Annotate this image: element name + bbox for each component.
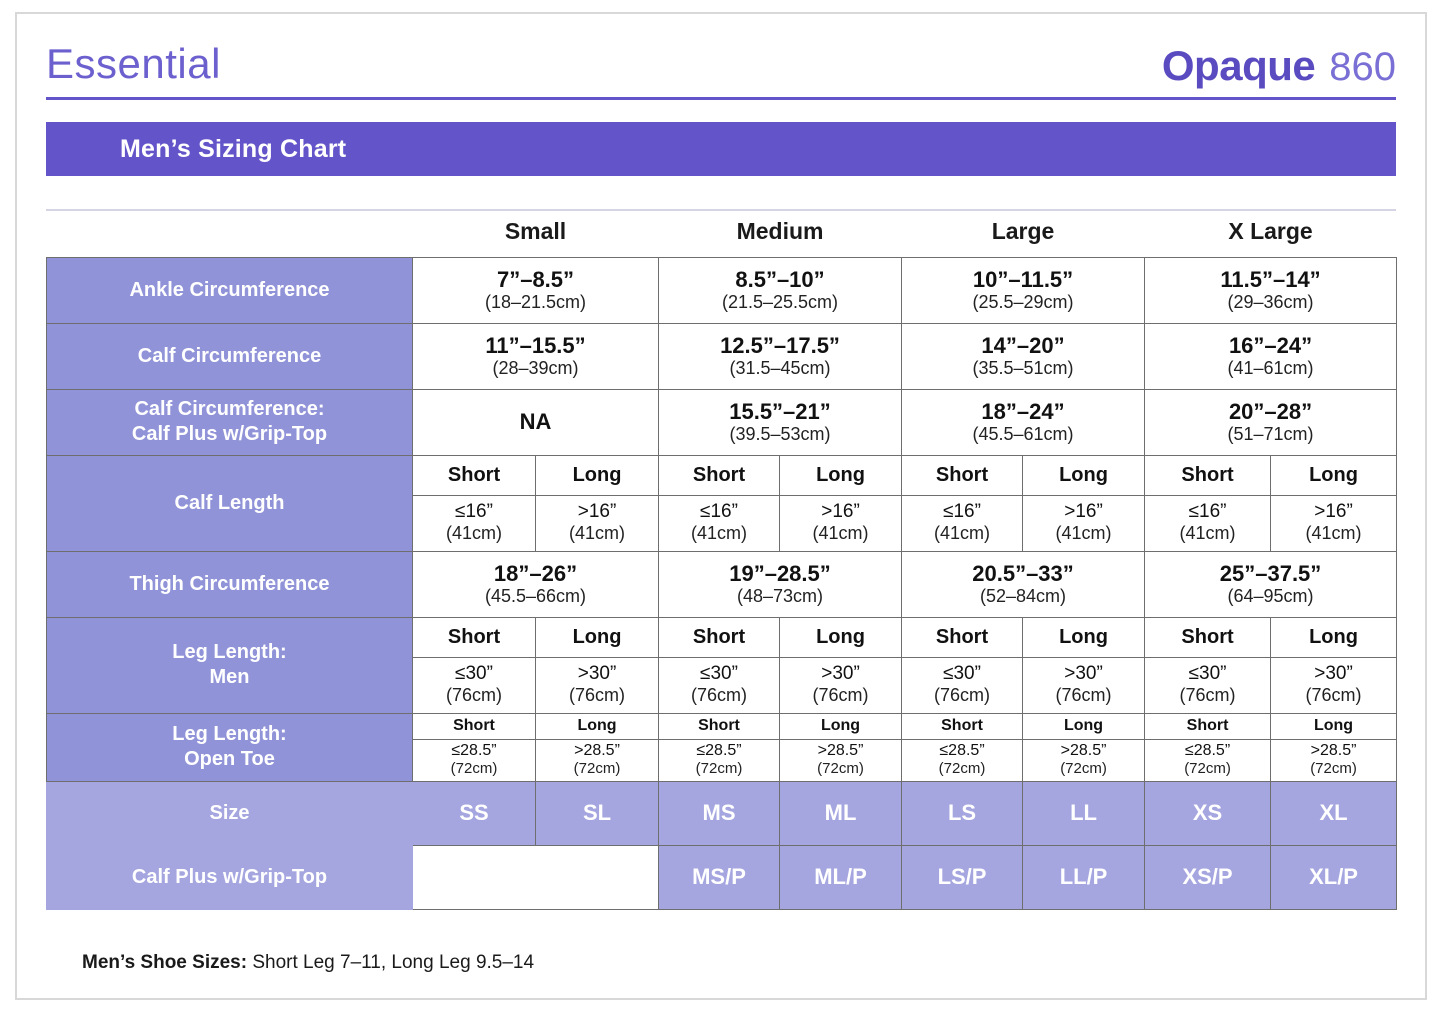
cell-primary-value: 20”–28”: [1145, 399, 1396, 424]
cell-metric-value: (52–84cm): [902, 586, 1144, 608]
data-cell: 15.5”–21”(39.5–53cm): [659, 389, 902, 455]
data-cell: 10”–11.5”(25.5–29cm): [902, 257, 1145, 323]
cell-primary-value: ≤30”: [1145, 663, 1270, 685]
length-subheader: Long: [536, 455, 659, 495]
cell-primary-value: 8.5”–10”: [659, 267, 901, 292]
data-cell: ≤28.5”(72cm): [413, 739, 536, 781]
data-cell: >16”(41cm): [536, 495, 659, 551]
length-subheader: Short: [413, 455, 536, 495]
data-cell: 20”–28”(51–71cm): [1145, 389, 1397, 455]
cell-primary-value: 14”–20”: [902, 333, 1144, 358]
data-cell: 7”–8.5”(18–21.5cm): [413, 257, 659, 323]
row-label-line2: Calf Plus w/Grip-Top: [47, 422, 412, 447]
size-column-header: X Large: [1145, 211, 1397, 257]
data-cell: >16”(41cm): [780, 495, 902, 551]
row-label-text: Calf Circumference: [138, 345, 321, 367]
cell-primary-value: ≤16”: [902, 501, 1022, 523]
data-cell: >16”(41cm): [1023, 495, 1145, 551]
shoe-size-footnote: Men’s Shoe Sizes: Short Leg 7–11, Long L…: [82, 952, 534, 974]
length-subheader: Short: [1145, 455, 1271, 495]
data-cell: 12.5”–17.5”(31.5–45cm): [659, 323, 902, 389]
cell-metric-value: (72cm): [902, 760, 1022, 778]
row-label: Leg Length:Open Toe: [47, 713, 413, 781]
length-subheader: Long: [1271, 713, 1397, 739]
length-subheader: Short: [659, 713, 780, 739]
data-cell: 16”–24”(41–61cm): [1145, 323, 1397, 389]
size-code-cell: LS/P: [902, 845, 1023, 909]
size-code-cell: MS: [659, 781, 780, 845]
row-label: Thigh Circumference: [47, 551, 413, 617]
length-subheader: Short: [1145, 617, 1271, 657]
footnote-value: Short Leg 7–11, Long Leg 9.5–14: [247, 952, 534, 973]
cell-primary-value: >30”: [780, 663, 901, 685]
row-label: Calf Circumference: [47, 323, 413, 389]
cell-primary-value: ≤28.5”: [1145, 742, 1270, 760]
size-column-header: Small: [413, 211, 659, 257]
cell-primary-value: 11.5”–14”: [1145, 267, 1396, 292]
cell-primary-value: 19”–28.5”: [659, 561, 901, 586]
cell-primary-value: >16”: [1271, 501, 1396, 523]
data-cell: >30”(76cm): [1023, 657, 1145, 713]
cell-metric-value: (41cm): [659, 523, 779, 545]
row-label: Calf Circumference:Calf Plus w/Grip-Top: [47, 389, 413, 455]
length-subheader: Long: [780, 617, 902, 657]
cell-primary-value: 25”–37.5”: [1145, 561, 1396, 586]
cell-primary-value: >28.5”: [1271, 742, 1396, 760]
cell-primary-value: 12.5”–17.5”: [659, 333, 901, 358]
table-row: Calf Plus w/Grip-TopMS/PML/PLS/PLL/PXS/P…: [47, 845, 1397, 909]
data-cell: 11.5”–14”(29–36cm): [1145, 257, 1397, 323]
cell-metric-value: (41–61cm): [1145, 358, 1396, 380]
cell-primary-value: >28.5”: [536, 742, 658, 760]
data-cell: ≤28.5”(72cm): [659, 739, 780, 781]
row-label-line1: Leg Length:: [47, 722, 412, 747]
cell-primary-value: ≤16”: [413, 501, 535, 523]
size-code-cell: XL: [1271, 781, 1397, 845]
cell-primary-value: >16”: [780, 501, 901, 523]
footnote-label: Men’s Shoe Sizes:: [82, 952, 247, 973]
cell-primary-value: 11”–15.5”: [413, 333, 658, 358]
document-header: Essential Opaque 860: [46, 26, 1396, 100]
row-label: Calf Length: [47, 455, 413, 551]
data-cell: >28.5”(72cm): [536, 739, 659, 781]
cell-metric-value: (41cm): [1023, 523, 1144, 545]
length-subheader: Long: [1023, 617, 1145, 657]
cell-metric-value: (72cm): [1023, 760, 1144, 778]
length-subheader: Long: [1271, 617, 1397, 657]
data-cell: ≤30”(76cm): [413, 657, 536, 713]
row-label: Ankle Circumference: [47, 257, 413, 323]
length-subheader: Short: [413, 713, 536, 739]
length-subheader: Long: [536, 617, 659, 657]
product-name: Opaque: [1162, 45, 1315, 87]
cell-metric-value: (25.5–29cm): [902, 292, 1144, 314]
cell-metric-value: (41cm): [1271, 523, 1396, 545]
length-subheader: Long: [536, 713, 659, 739]
cell-primary-value: 18”–26”: [413, 561, 658, 586]
cell-metric-value: (28–39cm): [413, 358, 658, 380]
size-code-cell: XS: [1145, 781, 1271, 845]
data-cell: ≤30”(76cm): [1145, 657, 1271, 713]
length-subheader: Short: [659, 617, 780, 657]
size-column-header: Medium: [659, 211, 902, 257]
length-subheader: Short: [902, 617, 1023, 657]
cell-metric-value: (45.5–61cm): [902, 424, 1144, 446]
cell-primary-value: ≤16”: [1145, 501, 1270, 523]
product-number: 860: [1329, 47, 1396, 87]
row-label-text: Calf Plus w/Grip-Top: [132, 866, 327, 888]
length-subheader: Long: [780, 713, 902, 739]
data-cell: ≤28.5”(72cm): [902, 739, 1023, 781]
table-row: Thigh Circumference18”–26”(45.5–66cm)19”…: [47, 551, 1397, 617]
cell-primary-value: 16”–24”: [1145, 333, 1396, 358]
cell-metric-value: (18–21.5cm): [413, 292, 658, 314]
cell-primary-value: >28.5”: [780, 742, 901, 760]
table-row: Calf Circumference:Calf Plus w/Grip-TopN…: [47, 389, 1397, 455]
cell-primary-value: >30”: [536, 663, 658, 685]
cell-metric-value: (72cm): [536, 760, 658, 778]
size-code-cell: SS: [413, 781, 536, 845]
sizing-table: SmallMediumLargeX LargeAnkle Circumferen…: [46, 211, 1397, 910]
row-label-line2: Men: [47, 665, 412, 690]
length-subheader: Short: [413, 617, 536, 657]
cell-primary-value: ≤28.5”: [659, 742, 779, 760]
table-row: Ankle Circumference7”–8.5”(18–21.5cm)8.5…: [47, 257, 1397, 323]
cell-metric-value: (41cm): [536, 523, 658, 545]
cell-metric-value: (76cm): [413, 685, 535, 707]
cell-metric-value: (76cm): [902, 685, 1022, 707]
cell-metric-value: (41cm): [780, 523, 901, 545]
cell-metric-value: (31.5–45cm): [659, 358, 901, 380]
length-subheader: Short: [902, 713, 1023, 739]
product-identifier: Opaque 860: [1162, 45, 1396, 97]
data-cell: >28.5”(72cm): [1023, 739, 1145, 781]
size-code-cell: LL/P: [1023, 845, 1145, 909]
page-title: Men’s Sizing Chart: [46, 135, 346, 164]
corner-blank: [47, 211, 413, 257]
cell-primary-value: >28.5”: [1023, 742, 1144, 760]
length-subheader: Long: [1271, 455, 1397, 495]
cell-metric-value: (29–36cm): [1145, 292, 1396, 314]
cell-primary-value: >16”: [1023, 501, 1144, 523]
cell-metric-value: (48–73cm): [659, 586, 901, 608]
length-subheader: Long: [1023, 713, 1145, 739]
cell-primary-value: ≤30”: [413, 663, 535, 685]
cell-metric-value: (76cm): [1271, 685, 1396, 707]
cell-metric-value: (76cm): [1023, 685, 1144, 707]
cell-primary-value: NA: [413, 409, 658, 434]
row-label-line1: Leg Length:: [47, 640, 412, 665]
sizing-chart-page: Essential Opaque 860 Men’s Sizing Chart …: [0, 0, 1445, 1020]
row-label: Leg Length:Men: [47, 617, 413, 713]
row-label-text: Thigh Circumference: [129, 573, 329, 595]
cell-primary-value: ≤28.5”: [413, 742, 535, 760]
data-cell: >30”(76cm): [780, 657, 902, 713]
data-cell: ≤30”(76cm): [902, 657, 1023, 713]
cell-metric-value: (72cm): [1271, 760, 1396, 778]
cell-metric-value: (76cm): [780, 685, 901, 707]
table-row: SizeSSSLMSMLLSLLXSXL: [47, 781, 1397, 845]
cell-primary-value: 10”–11.5”: [902, 267, 1144, 292]
cell-primary-value: ≤16”: [659, 501, 779, 523]
data-cell: >28.5”(72cm): [780, 739, 902, 781]
data-cell: >16”(41cm): [1271, 495, 1397, 551]
row-label: Size: [47, 781, 413, 845]
cell-metric-value: (21.5–25.5cm): [659, 292, 901, 314]
table-row: Leg Length:Open ToeShortLongShortLongSho…: [47, 713, 1397, 739]
data-cell: 20.5”–33”(52–84cm): [902, 551, 1145, 617]
cell-metric-value: (76cm): [1145, 685, 1270, 707]
row-label-text: Calf Length: [175, 492, 285, 514]
data-cell: 8.5”–10”(21.5–25.5cm): [659, 257, 902, 323]
size-code-cell: ML/P: [780, 845, 902, 909]
cell-metric-value: (72cm): [413, 760, 535, 778]
cell-metric-value: (45.5–66cm): [413, 586, 658, 608]
cell-metric-value: (76cm): [659, 685, 779, 707]
size-code-cell: XL/P: [1271, 845, 1397, 909]
cell-primary-value: >30”: [1023, 663, 1144, 685]
data-cell: NA: [413, 389, 659, 455]
data-cell: ≤28.5”(72cm): [1145, 739, 1271, 781]
data-cell: 25”–37.5”(64–95cm): [1145, 551, 1397, 617]
data-cell: 11”–15.5”(28–39cm): [413, 323, 659, 389]
cell-metric-value: (72cm): [1145, 760, 1270, 778]
length-subheader: Long: [780, 455, 902, 495]
size-code-cell: SL: [536, 781, 659, 845]
size-column-header-row: SmallMediumLargeX Large: [47, 211, 1397, 257]
cell-metric-value: (72cm): [659, 760, 779, 778]
cell-primary-value: ≤30”: [902, 663, 1022, 685]
data-cell: 14”–20”(35.5–51cm): [902, 323, 1145, 389]
chart-title-bar: Men’s Sizing Chart: [46, 122, 1396, 176]
data-cell: 18”–24”(45.5–61cm): [902, 389, 1145, 455]
data-cell: 19”–28.5”(48–73cm): [659, 551, 902, 617]
length-subheader: Short: [659, 455, 780, 495]
data-cell: ≤16”(41cm): [1145, 495, 1271, 551]
cell-metric-value: (76cm): [536, 685, 658, 707]
data-cell: >30”(76cm): [536, 657, 659, 713]
cell-primary-value: 20.5”–33”: [902, 561, 1144, 586]
cell-metric-value: (51–71cm): [1145, 424, 1396, 446]
row-label-text: Size: [209, 802, 249, 824]
size-column-header: Large: [902, 211, 1145, 257]
cell-primary-value: ≤28.5”: [902, 742, 1022, 760]
cell-metric-value: (41cm): [1145, 523, 1270, 545]
data-cell: ≤16”(41cm): [902, 495, 1023, 551]
data-cell: ≤30”(76cm): [659, 657, 780, 713]
cell-metric-value: (64–95cm): [1145, 586, 1396, 608]
cell-metric-value: (41cm): [413, 523, 535, 545]
table-row: Leg Length:MenShortLongShortLongShortLon…: [47, 617, 1397, 657]
size-code-cell: XS/P: [1145, 845, 1271, 909]
cell-primary-value: >16”: [536, 501, 658, 523]
size-code-cell: ML: [780, 781, 902, 845]
cell-primary-value: 18”–24”: [902, 399, 1144, 424]
cell-primary-value: ≤30”: [659, 663, 779, 685]
data-cell: ≤16”(41cm): [413, 495, 536, 551]
row-label-text: Ankle Circumference: [129, 279, 329, 301]
cell-metric-value: (39.5–53cm): [659, 424, 901, 446]
cell-metric-value: (72cm): [780, 760, 901, 778]
data-cell: >30”(76cm): [1271, 657, 1397, 713]
length-subheader: Short: [1145, 713, 1271, 739]
row-label: Calf Plus w/Grip-Top: [47, 845, 413, 909]
length-subheader: Long: [1023, 455, 1145, 495]
cell-primary-value: 15.5”–21”: [659, 399, 901, 424]
brand-name: Essential: [46, 43, 221, 97]
length-subheader: Short: [902, 455, 1023, 495]
size-code-cell: MS/P: [659, 845, 780, 909]
data-cell: 18”–26”(45.5–66cm): [413, 551, 659, 617]
size-code-cell: LL: [1023, 781, 1145, 845]
table-row: Calf LengthShortLongShortLongShortLongSh…: [47, 455, 1397, 495]
data-cell: ≤16”(41cm): [659, 495, 780, 551]
cell-primary-value: 7”–8.5”: [413, 267, 658, 292]
size-code-cell: LS: [902, 781, 1023, 845]
size-code-empty: [413, 845, 659, 909]
cell-metric-value: (41cm): [902, 523, 1022, 545]
table-row: Calf Circumference11”–15.5”(28–39cm)12.5…: [47, 323, 1397, 389]
row-label-line2: Open Toe: [47, 747, 412, 772]
data-cell: >28.5”(72cm): [1271, 739, 1397, 781]
row-label-line1: Calf Circumference:: [47, 397, 412, 422]
cell-primary-value: >30”: [1271, 663, 1396, 685]
cell-metric-value: (35.5–51cm): [902, 358, 1144, 380]
